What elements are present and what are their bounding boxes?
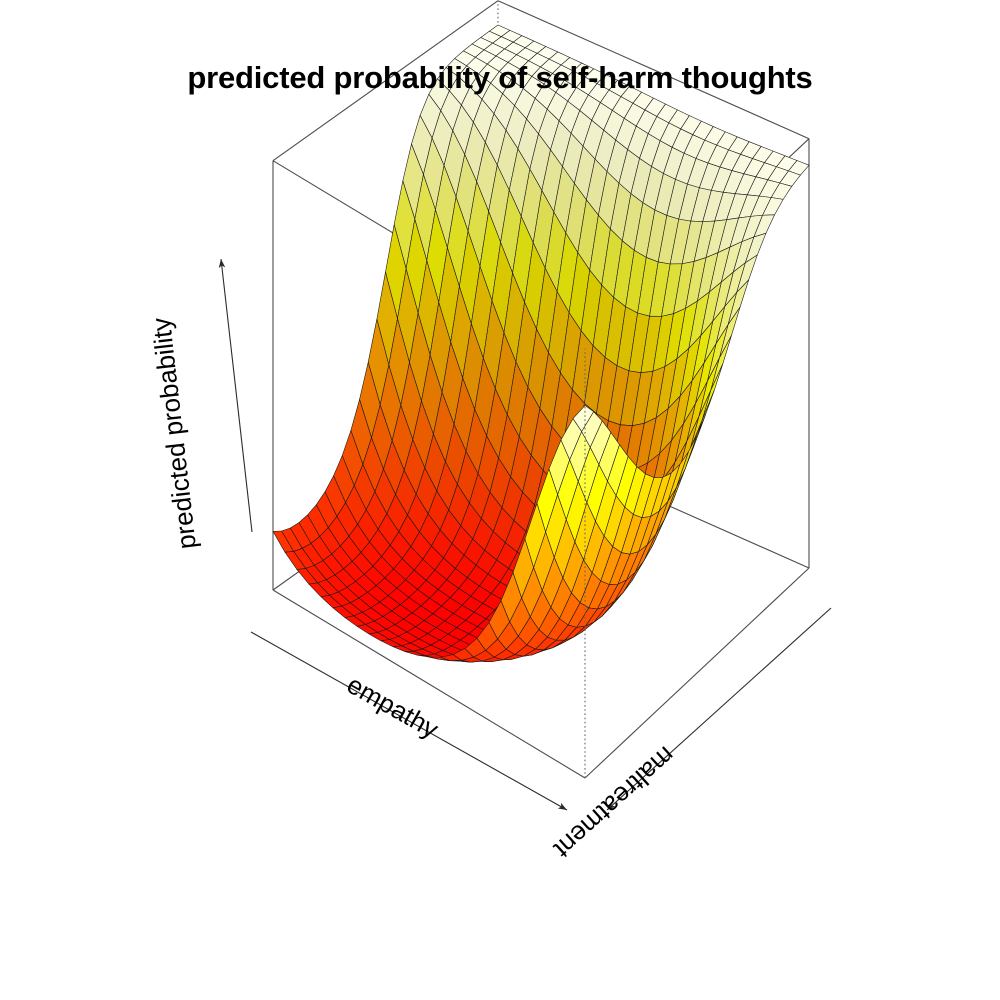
surface-mesh <box>273 25 809 662</box>
page-title: predicted probability of self-harm thoug… <box>0 60 1000 96</box>
plot-root: predicted probability of self-harm thoug… <box>0 0 1000 1000</box>
y-axis-label: maltreatment <box>548 741 681 865</box>
z-axis-label: predicted probability <box>146 316 202 551</box>
x-axis-label: empathy <box>342 669 444 744</box>
persp-3d-plot: empathy maltreatment predicted probabili… <box>0 0 1000 1000</box>
